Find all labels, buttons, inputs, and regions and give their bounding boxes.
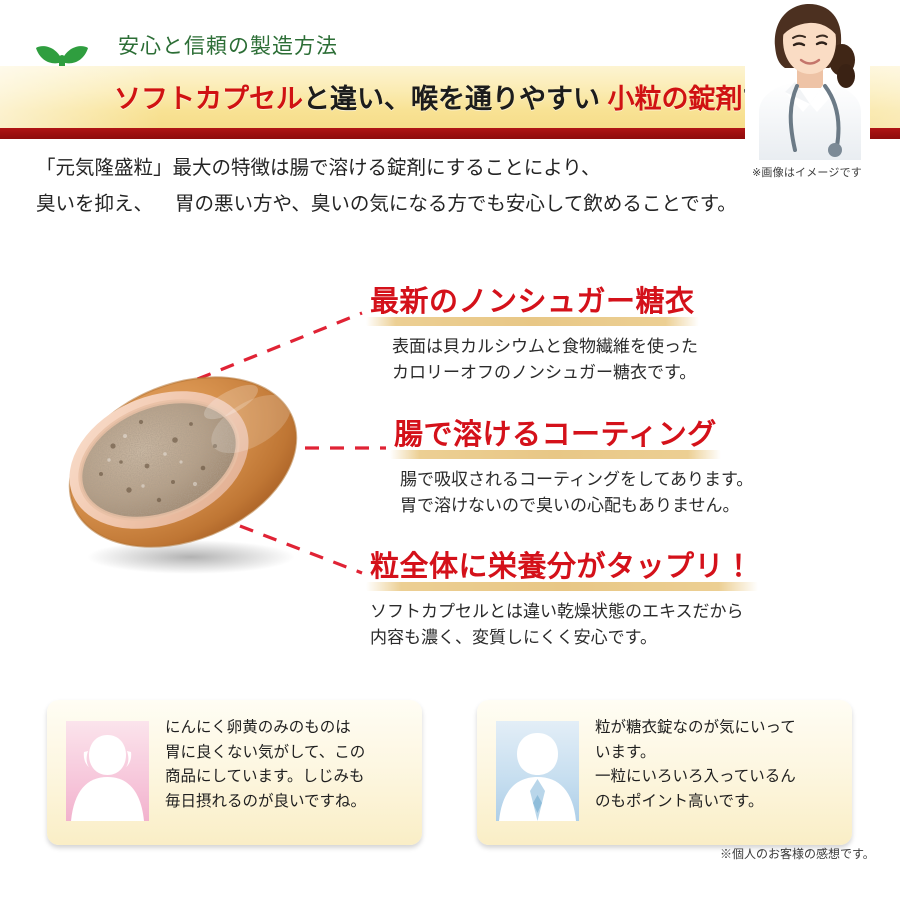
testimonial-2-line-3: 一粒にいろいろ入っているん xyxy=(595,765,844,790)
callout-3-body: ソフトカプセルとは違い乾燥状態のエキスだから 内容も濃く、変質しにくく安心です。 xyxy=(370,599,754,651)
banner-headline-red-1: ソフトカプセル xyxy=(114,84,303,114)
callout-3-body-line-2: 内容も濃く、変質しにくく安心です。 xyxy=(370,625,754,651)
tablet-cross-section-image xyxy=(55,350,325,580)
testimonial-2-text: 粒が糖衣錠なのが気にいって います。 一粒にいろいろ入っているん のもポイント高… xyxy=(595,716,844,814)
lead-line-2b: 胃の悪い方や、臭いの気になる方でも安心して飲めることです。 xyxy=(175,193,737,215)
banner-headline: ソフトカプセルと違い、喉を通りやすい 小粒の錠剤です。 xyxy=(114,77,821,116)
testimonial-card-1: にんにく卵黄のみのものは 胃に良くない気がして、この 商品にしています。しじみも… xyxy=(47,700,422,845)
infographic-page: 安心と信頼の製造方法 ソフトカプセルと違い、喉を通りやすい 小粒の錠剤です。 xyxy=(0,0,900,900)
testimonial-2-line-4: のもポイント高いです。 xyxy=(595,790,844,815)
male-avatar-icon xyxy=(496,721,579,821)
callout-2-body-line-1: 腸で吸収されるコーティングをしてあります。 xyxy=(400,467,753,493)
lead-paragraph: 「元気隆盛粒」最大の特徴は腸で溶ける錠剤にすることにより、 臭いを抑え、胃の悪い… xyxy=(36,150,737,222)
testimonial-2-line-2: います。 xyxy=(595,741,844,766)
lead-line-2: 臭いを抑え、胃の悪い方や、臭いの気になる方でも安心して飲めることです。 xyxy=(36,186,737,222)
callout-2: 腸で溶けるコーティング 腸で吸収されるコーティングをしてあります。 胃で溶けない… xyxy=(394,411,753,519)
banner-headline-red-2: 小粒の錠剤 xyxy=(608,84,743,114)
callout-1-body: 表面は貝カルシウムと食物繊維を使った カロリーオフのノンシュガー糖衣です。 xyxy=(392,334,698,386)
doctor-photo xyxy=(745,0,870,160)
lead-line-1: 「元気隆盛粒」最大の特徴は腸で溶ける錠剤にすることにより、 xyxy=(36,150,737,186)
testimonial-1-line-1: にんにく卵黄のみのものは xyxy=(165,716,414,741)
callout-2-body-line-2: 胃で溶けないので臭いの心配もありません。 xyxy=(400,493,753,519)
banner-headline-black-1: と違い、喉を通りやすい xyxy=(303,84,608,114)
callout-1-body-line-1: 表面は貝カルシウムと食物繊維を使った xyxy=(392,334,698,360)
testimonial-2-line-1: 粒が糖衣錠なのが気にいって xyxy=(595,716,844,741)
callout-1-heading: 最新のノンシュガー糖衣 xyxy=(370,278,695,323)
callout-3-heading: 粒全体に栄養分がタップリ！ xyxy=(370,543,754,588)
doctor-image-caption: ※画像はイメージです xyxy=(752,164,862,180)
header-eyebrow: 安心と信頼の製造方法 xyxy=(118,30,338,60)
product-diagram-section: 最新のノンシュガー糖衣 表面は貝カルシウムと食物繊維を使った カロリーオフのノン… xyxy=(0,255,900,675)
testimonial-disclaimer: ※個人のお客様の感想です。 xyxy=(720,845,875,862)
callout-1-body-line-2: カロリーオフのノンシュガー糖衣です。 xyxy=(392,360,698,386)
callout-2-heading: 腸で溶けるコーティング xyxy=(394,411,717,456)
callout-1: 最新のノンシュガー糖衣 表面は貝カルシウムと食物繊維を使った カロリーオフのノン… xyxy=(370,278,698,386)
testimonial-1-line-3: 商品にしています。しじみも xyxy=(165,765,414,790)
testimonial-1-line-2: 胃に良くない気がして、この xyxy=(165,741,414,766)
female-avatar-icon xyxy=(66,721,149,821)
callout-3: 粒全体に栄養分がタップリ！ ソフトカプセルとは違い乾燥状態のエキスだから 内容も… xyxy=(370,543,754,651)
header-section: 安心と信頼の製造方法 ソフトカプセルと違い、喉を通りやすい 小粒の錠剤です。 xyxy=(0,0,900,230)
callout-2-body: 腸で吸収されるコーティングをしてあります。 胃で溶けないので臭いの心配もありませ… xyxy=(400,467,753,519)
testimonial-1-text: にんにく卵黄のみのものは 胃に良くない気がして、この 商品にしています。しじみも… xyxy=(165,716,414,814)
callout-3-body-line-1: ソフトカプセルとは違い乾燥状態のエキスだから xyxy=(370,599,754,625)
lead-line-2a: 臭いを抑え、 xyxy=(36,193,153,215)
testimonial-1-line-4: 毎日摂れるのが良いですね。 xyxy=(165,790,414,815)
testimonial-card-2: 粒が糖衣錠なのが気にいって います。 一粒にいろいろ入っているん のもポイント高… xyxy=(477,700,852,845)
